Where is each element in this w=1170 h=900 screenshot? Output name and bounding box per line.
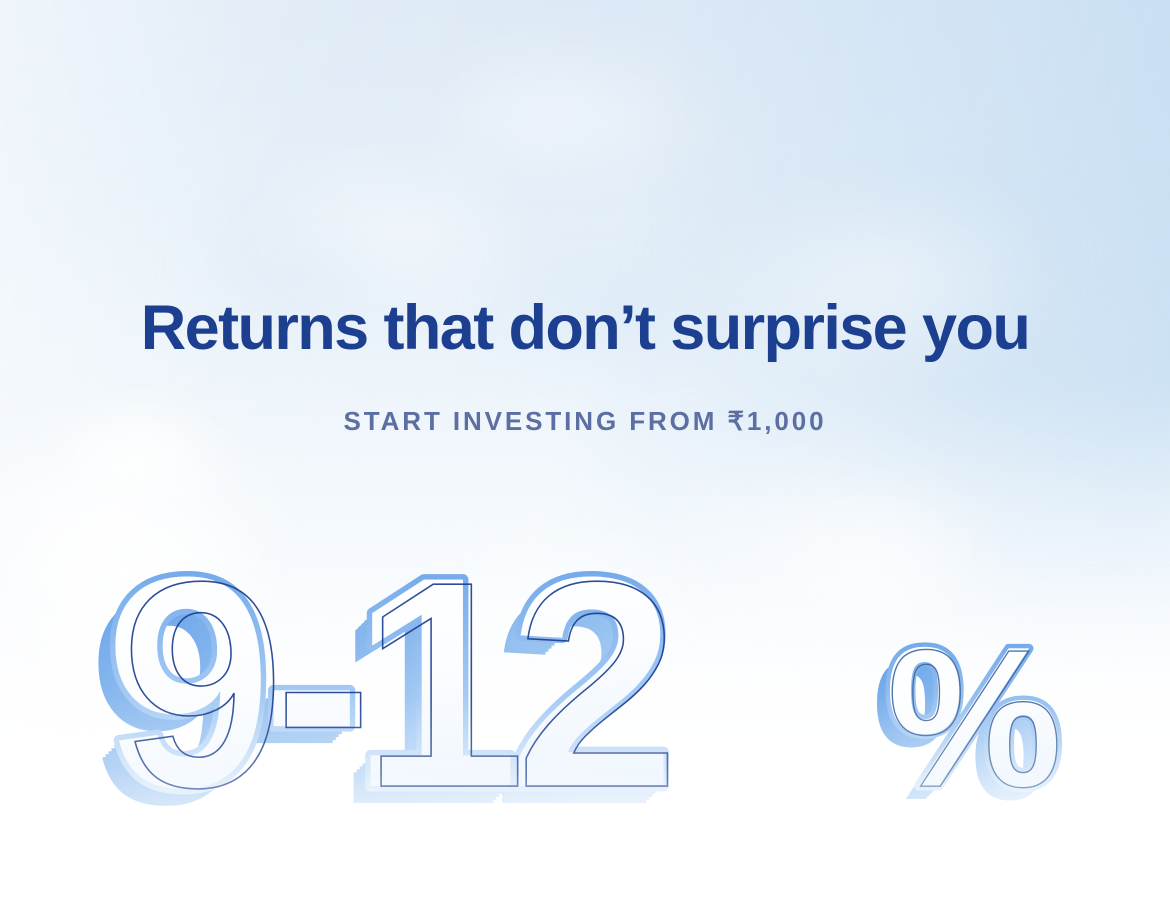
hero-text-block: Returns that don’t surprise you START IN… xyxy=(0,296,1170,437)
hero-subtitle: START INVESTING FROM ₹1,000 xyxy=(0,362,1170,437)
sky-blue-tint-overlay xyxy=(0,0,1170,900)
returns-hero-banner: 9-12 9-12 9-12 9-12 9-12 9-12 % % % % % … xyxy=(0,0,1170,900)
page-title: Returns that don’t surprise you xyxy=(0,296,1170,362)
